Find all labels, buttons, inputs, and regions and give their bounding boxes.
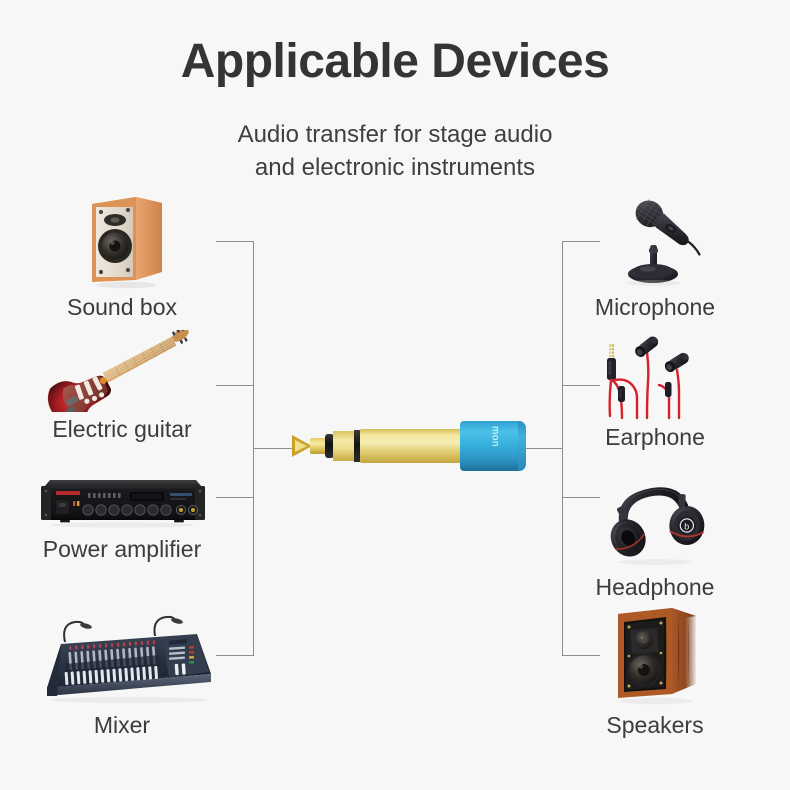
device-speakers: Speakers	[550, 600, 760, 739]
device-label: Mixer	[17, 712, 227, 739]
audio-adapter-product: mon	[292, 415, 524, 477]
device-earphone: Earphone	[550, 330, 760, 451]
page-subtitle: Audio transfer for stage audio and elect…	[0, 118, 790, 184]
plug-barrel-segment-2	[360, 429, 465, 463]
plug-barrel-segment-1	[333, 431, 355, 461]
left-bracket-to-plug	[253, 448, 297, 449]
desktop-microphone-icon	[550, 190, 760, 290]
device-headphone: b Headphone	[550, 470, 760, 601]
device-electric-guitar: Electric guitar	[17, 330, 227, 443]
device-label: Headphone	[550, 574, 760, 601]
device-label: Earphone	[550, 424, 760, 451]
headphone-icon: b	[550, 470, 760, 570]
device-power-amplifier: Power amplifier	[17, 470, 227, 563]
adapter-socket-end	[518, 421, 526, 471]
device-microphone: Microphone	[550, 190, 760, 321]
device-label: Power amplifier	[17, 536, 227, 563]
infographic-canvas: Applicable Devices Audio transfer for st…	[0, 0, 790, 790]
earphone-icon	[550, 330, 760, 420]
mixer-console-icon	[17, 612, 227, 708]
bookshelf-speaker-icon	[17, 190, 227, 290]
page-title: Applicable Devices	[0, 36, 790, 89]
device-label: Microphone	[550, 294, 760, 321]
power-amplifier-icon	[17, 470, 227, 532]
device-label: Electric guitar	[17, 416, 227, 443]
device-mixer: Mixer	[17, 612, 227, 739]
electric-guitar-icon	[17, 330, 227, 412]
device-label: Speakers	[550, 712, 760, 739]
device-sound-box: Sound box	[17, 190, 227, 321]
svg-text:b: b	[684, 521, 689, 531]
plug-tip-highlight	[295, 440, 307, 452]
subtitle-line-1: Audio transfer for stage audio	[0, 118, 790, 151]
device-label: Sound box	[17, 294, 227, 321]
wooden-speaker-icon	[550, 600, 760, 708]
subtitle-line-2: and electronic instruments	[0, 151, 790, 184]
adapter-brand-text: mon	[490, 422, 501, 452]
plug-neck	[310, 438, 326, 454]
